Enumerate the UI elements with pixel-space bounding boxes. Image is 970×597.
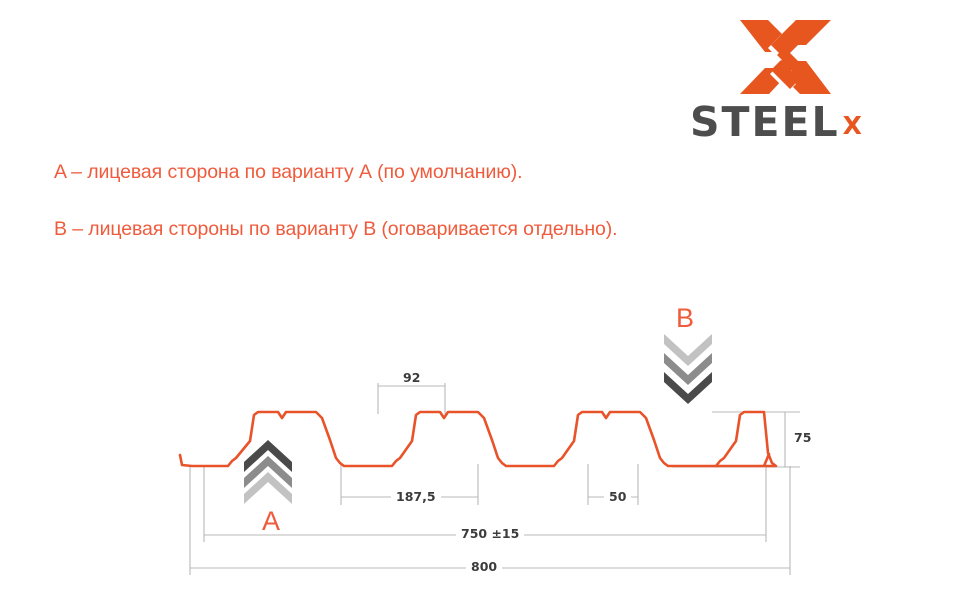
sheet-profile-right-hook <box>716 454 769 466</box>
marker-label-a: A <box>262 508 280 535</box>
profile-technical-drawing <box>0 0 970 597</box>
marker-b-chevrons <box>664 334 712 404</box>
profile-drawing-page: STEEL X A – лицевая сторона по варианту … <box>0 0 970 597</box>
dimension-label-height: 75 <box>789 432 816 445</box>
dimension-label-useful-width: 750 ±15 <box>456 528 524 541</box>
marker-label-b: B <box>676 305 694 332</box>
marker-a-chevrons <box>244 440 292 504</box>
dimension-label-total-width: 800 <box>466 561 502 574</box>
dimension-label-valley-width: 50 <box>604 491 631 504</box>
dimension-label-pitch: 187,5 <box>391 491 441 504</box>
dimension-lines-group <box>190 383 800 575</box>
dimension-label-crest-width: 92 <box>398 372 425 385</box>
